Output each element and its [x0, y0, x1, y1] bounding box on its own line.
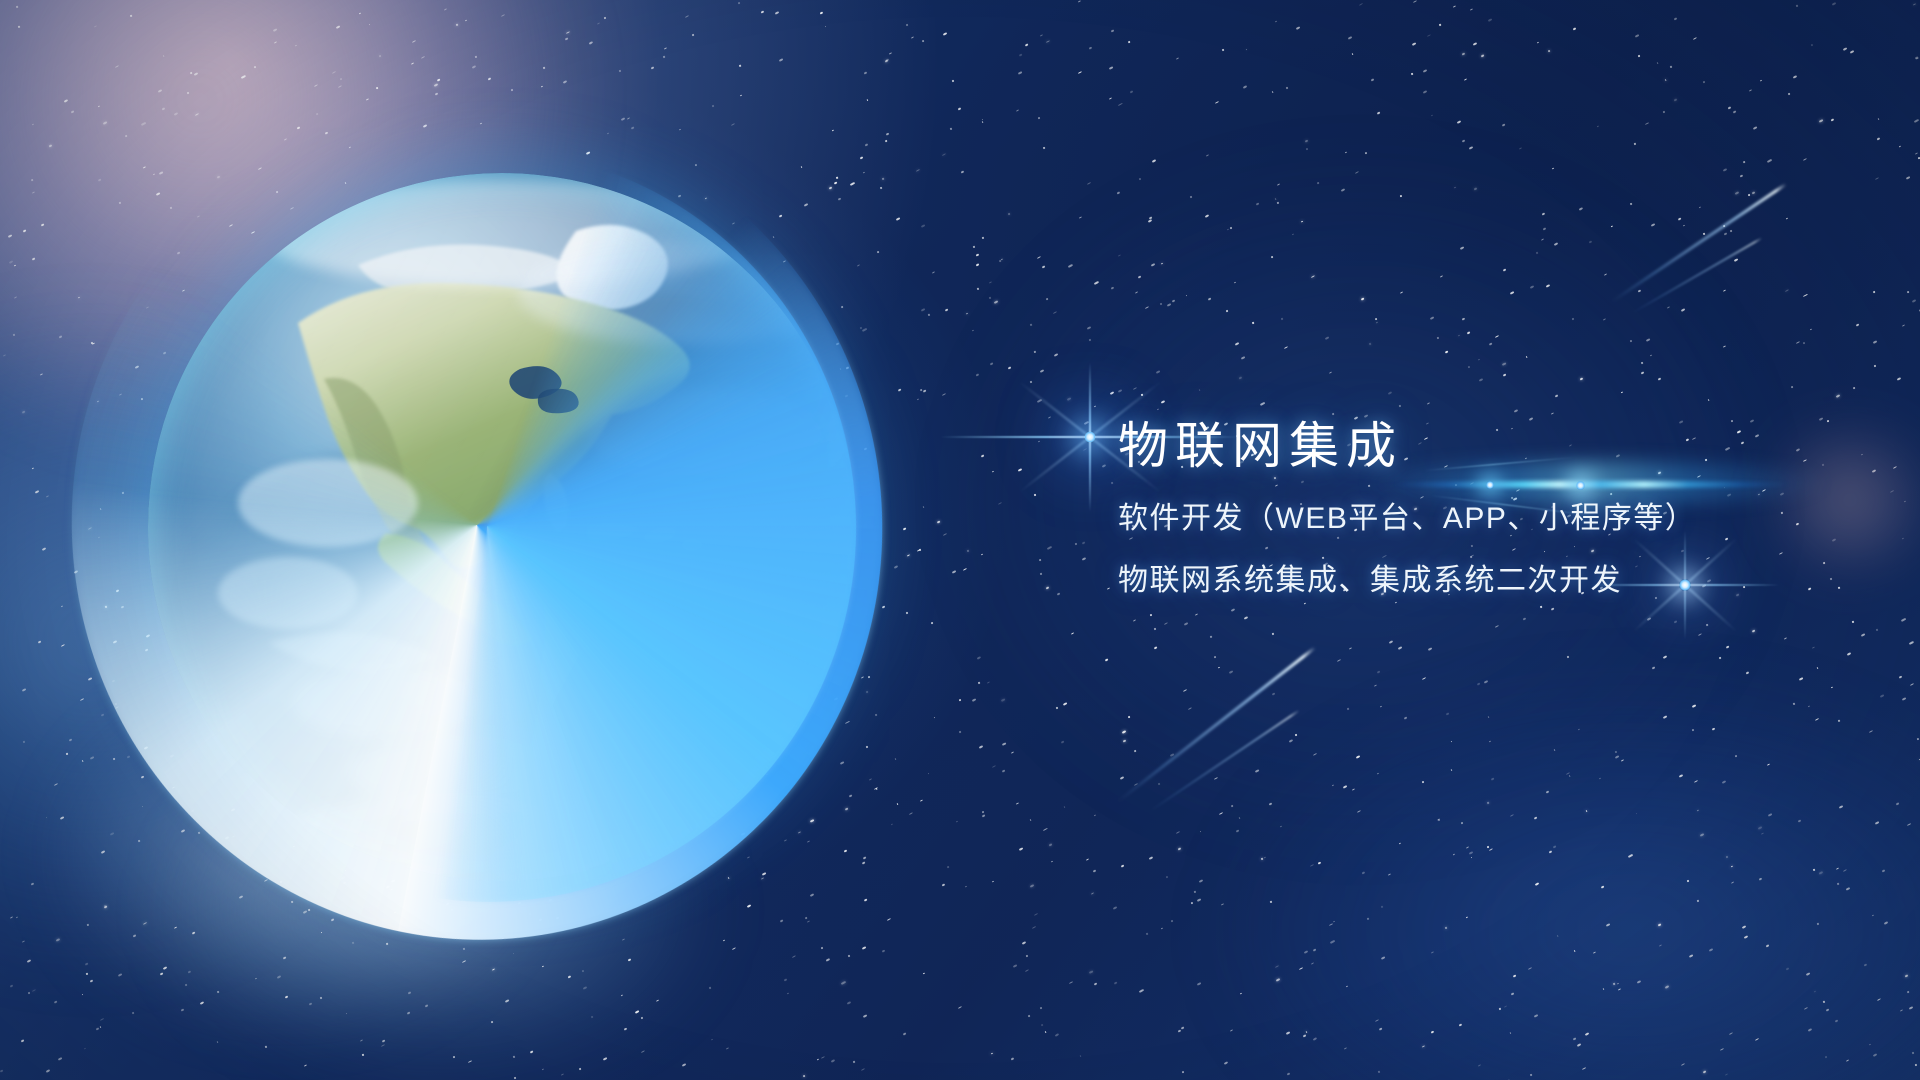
- star: [1176, 831, 1180, 834]
- star: [264, 1046, 266, 1048]
- star: [444, 9, 447, 11]
- page-title: 物联网集成: [1118, 418, 1878, 474]
- star: [1021, 941, 1025, 945]
- star: [1812, 868, 1814, 870]
- star: [22, 410, 26, 413]
- star: [1343, 1048, 1346, 1050]
- star: [141, 122, 146, 125]
- star: [10, 984, 14, 987]
- star: [1229, 670, 1234, 674]
- star: [1459, 1023, 1463, 1026]
- star: [972, 698, 977, 702]
- star: [1495, 335, 1499, 338]
- star: [1043, 828, 1048, 831]
- star: [981, 237, 983, 240]
- star: [1193, 891, 1195, 894]
- star: [512, 1056, 514, 1058]
- star: [1896, 803, 1899, 806]
- star: [1810, 43, 1813, 46]
- star: [1825, 1055, 1828, 1058]
- star: [1082, 557, 1086, 561]
- star: [1130, 90, 1133, 93]
- star: [1112, 906, 1116, 909]
- star: [1089, 46, 1093, 50]
- star: [1723, 224, 1726, 226]
- star: [1324, 336, 1329, 340]
- star: [986, 681, 989, 684]
- star: [97, 106, 99, 108]
- star: [58, 1058, 62, 1061]
- star: [69, 739, 73, 742]
- star: [1306, 147, 1309, 150]
- star: [1164, 622, 1168, 625]
- star: [1365, 151, 1368, 154]
- star: [1341, 188, 1346, 192]
- star: [27, 992, 30, 995]
- star: [1105, 659, 1108, 662]
- star: [906, 23, 909, 26]
- star: [1118, 103, 1123, 106]
- star: [891, 823, 893, 825]
- star: [1422, 1046, 1425, 1048]
- star: [976, 263, 979, 266]
- star: [1907, 290, 1910, 293]
- star: [582, 986, 586, 990]
- star: [1911, 1052, 1913, 1055]
- star: [40, 374, 43, 376]
- star: [1008, 367, 1011, 370]
- star: [1692, 728, 1695, 731]
- star: [1726, 855, 1729, 858]
- star: [1645, 338, 1649, 341]
- star: [1510, 815, 1514, 818]
- star: [474, 56, 476, 59]
- star: [1897, 377, 1901, 381]
- star: [1557, 935, 1559, 937]
- star: [1422, 781, 1425, 784]
- star: [1474, 188, 1477, 191]
- star: [1048, 416, 1051, 418]
- star: [1468, 366, 1471, 369]
- star: [1873, 340, 1878, 344]
- star: [1818, 871, 1822, 875]
- star: [1638, 290, 1642, 293]
- star: [468, 1060, 472, 1063]
- star: [1337, 659, 1341, 662]
- star: [425, 1004, 428, 1007]
- star: [1094, 814, 1096, 816]
- star: [1902, 697, 1906, 700]
- star: [1222, 48, 1225, 50]
- star: [1083, 448, 1087, 451]
- star: [1747, 193, 1750, 196]
- star: [977, 288, 979, 290]
- star: [15, 917, 17, 919]
- star: [1199, 830, 1201, 832]
- star: [319, 996, 321, 999]
- star: [194, 72, 199, 76]
- star: [1465, 917, 1467, 919]
- star: [1846, 888, 1850, 891]
- star: [491, 1020, 494, 1023]
- star: [1121, 864, 1125, 867]
- star: [897, 803, 899, 806]
- star: [1545, 284, 1549, 288]
- star: [369, 24, 371, 26]
- star: [1522, 617, 1525, 620]
- star: [1877, 117, 1879, 119]
- star: [32, 989, 36, 992]
- star: [1154, 627, 1156, 630]
- star: [1706, 624, 1709, 626]
- star: [1803, 158, 1807, 161]
- star: [1294, 734, 1297, 737]
- star: [1243, 85, 1247, 89]
- star: [1528, 967, 1532, 970]
- star: [1149, 216, 1152, 219]
- star: [740, 95, 742, 97]
- star: [1286, 1073, 1289, 1076]
- star: [1667, 306, 1670, 308]
- star: [1502, 373, 1506, 376]
- star: [1450, 768, 1452, 771]
- star: [1016, 803, 1019, 806]
- star: [1566, 656, 1569, 659]
- star: [884, 60, 888, 64]
- star: [992, 881, 995, 883]
- star: [61, 606, 63, 608]
- star: [435, 92, 439, 95]
- star: [1018, 468, 1022, 472]
- star: [1462, 53, 1466, 56]
- star: [1579, 377, 1582, 380]
- star: [1398, 842, 1400, 844]
- star: [1915, 152, 1918, 155]
- star: [1873, 291, 1876, 293]
- star: [1040, 369, 1045, 373]
- star: [656, 999, 660, 1002]
- star: [1276, 201, 1278, 204]
- star: [564, 37, 567, 40]
- star: [1542, 228, 1545, 231]
- star: [340, 78, 343, 81]
- banner-copy: 物联网集成 软件开发（WEB平台、APP、小程序等） 物联网系统集成、集成系统二…: [1118, 418, 1878, 603]
- star: [1877, 138, 1880, 141]
- star: [1037, 441, 1039, 443]
- star: [1286, 87, 1288, 90]
- star: [1381, 906, 1383, 908]
- star: [1606, 923, 1610, 926]
- star: [13, 334, 15, 337]
- star: [1154, 646, 1157, 649]
- star: [1628, 854, 1633, 858]
- star: [1330, 940, 1335, 944]
- star: [1118, 254, 1121, 257]
- globe-rim-glow: [148, 173, 856, 881]
- star: [360, 1039, 363, 1041]
- star: [1525, 355, 1527, 357]
- star: [1585, 1032, 1590, 1036]
- star: [1011, 751, 1014, 754]
- star: [641, 1050, 646, 1053]
- star: [1040, 1024, 1043, 1027]
- star: [1488, 18, 1493, 22]
- star: [32, 191, 35, 194]
- star: [1067, 397, 1072, 401]
- star: [991, 471, 994, 473]
- star: [979, 745, 983, 749]
- star: [1817, 922, 1820, 925]
- star: [880, 186, 883, 188]
- star: [32, 468, 34, 470]
- star: [46, 817, 48, 819]
- star: [1726, 646, 1730, 649]
- star: [1629, 339, 1632, 342]
- star: [1757, 827, 1761, 830]
- star: [972, 246, 974, 249]
- star: [1683, 224, 1686, 226]
- star: [1579, 207, 1583, 211]
- star: [1484, 680, 1488, 683]
- star: [1094, 281, 1099, 285]
- star: [31, 257, 34, 260]
- star: [1480, 54, 1483, 57]
- star: [1051, 860, 1054, 862]
- star: [104, 905, 107, 908]
- star: [1914, 119, 1919, 123]
- star: [109, 832, 113, 835]
- star: [624, 1027, 628, 1030]
- star: [975, 373, 978, 376]
- star: [1377, 112, 1381, 115]
- star: [1117, 389, 1121, 392]
- star: [1189, 196, 1192, 199]
- star: [1662, 655, 1667, 659]
- star: [1900, 1009, 1903, 1011]
- star: [1145, 933, 1147, 935]
- star: [80, 698, 84, 701]
- star: [1658, 923, 1661, 926]
- star: [830, 1059, 834, 1063]
- star: [1875, 177, 1879, 180]
- star: [1460, 246, 1465, 250]
- star: [1909, 1006, 1913, 1009]
- star: [1160, 928, 1162, 930]
- star: [1227, 229, 1229, 231]
- star: [1436, 337, 1439, 340]
- star: [56, 938, 60, 942]
- star: [1697, 900, 1699, 903]
- star: [90, 756, 94, 759]
- star: [679, 128, 682, 130]
- star: [60, 816, 64, 819]
- star: [1019, 53, 1023, 56]
- star: [1618, 989, 1621, 991]
- star: [434, 83, 439, 87]
- star: [663, 56, 665, 58]
- star: [920, 388, 923, 390]
- star: [1868, 1044, 1870, 1046]
- star: [1246, 49, 1248, 51]
- star: [185, 983, 187, 985]
- star: [1074, 543, 1077, 546]
- star: [943, 533, 947, 536]
- star: [1835, 1020, 1839, 1023]
- star: [22, 688, 26, 691]
- star: [1530, 285, 1535, 289]
- star: [1873, 1053, 1878, 1057]
- star: [1038, 116, 1041, 119]
- star: [103, 121, 107, 124]
- star: [53, 1000, 57, 1003]
- star: [981, 121, 983, 123]
- star: [1758, 878, 1762, 882]
- star: [1354, 171, 1358, 174]
- star: [1296, 26, 1301, 30]
- star: [591, 1016, 594, 1018]
- star: [775, 11, 779, 14]
- star: [1071, 632, 1074, 634]
- star: [884, 140, 887, 142]
- star: [607, 133, 609, 135]
- star: [253, 65, 256, 68]
- star: [1311, 275, 1315, 278]
- star: [437, 78, 441, 81]
- star: [1046, 586, 1049, 589]
- star: [691, 34, 694, 37]
- star: [1536, 251, 1538, 253]
- star: [1423, 90, 1427, 93]
- star: [1039, 559, 1042, 562]
- star: [1665, 985, 1669, 989]
- star: [1431, 1031, 1435, 1035]
- star: [1566, 772, 1570, 775]
- star: [1673, 620, 1676, 623]
- star: [452, 1056, 455, 1059]
- star: [423, 124, 428, 128]
- star: [1869, 730, 1873, 733]
- star: [1107, 587, 1110, 590]
- star: [1486, 801, 1488, 803]
- star: [1218, 667, 1221, 669]
- star: [1637, 54, 1640, 57]
- star: [618, 70, 621, 73]
- flare-core: [1084, 431, 1096, 443]
- star: [1907, 990, 1910, 992]
- star: [1438, 818, 1441, 821]
- star: [1510, 1031, 1512, 1034]
- star: [117, 973, 121, 976]
- star: [66, 752, 68, 754]
- star: [1238, 376, 1241, 379]
- star: [1901, 618, 1906, 622]
- star: [1855, 323, 1859, 326]
- star: [882, 950, 886, 953]
- star: [1723, 168, 1727, 171]
- star: [158, 89, 162, 92]
- star: [1573, 950, 1575, 952]
- star: [464, 19, 466, 21]
- star: [1190, 902, 1193, 905]
- star: [1252, 322, 1254, 324]
- star: [981, 553, 983, 555]
- star: [1446, 712, 1449, 715]
- star: [1272, 693, 1276, 696]
- star: [0, 1069, 4, 1072]
- star: [1657, 62, 1659, 64]
- star: [1093, 983, 1097, 986]
- star: [1346, 985, 1348, 987]
- star: [975, 253, 979, 256]
- star: [1025, 955, 1028, 958]
- star: [1122, 730, 1126, 734]
- star: [1374, 317, 1377, 320]
- star: [1702, 80, 1705, 83]
- star: [505, 999, 509, 1002]
- star: [100, 1018, 104, 1021]
- star: [1029, 819, 1031, 821]
- star: [909, 812, 913, 815]
- star: [895, 758, 897, 760]
- star: [1739, 174, 1743, 177]
- star: [1453, 6, 1456, 9]
- star: [1916, 57, 1919, 59]
- star: [1650, 223, 1654, 226]
- star: [965, 886, 968, 888]
- star: [603, 16, 606, 19]
- star: [1874, 364, 1877, 367]
- star: [1745, 671, 1748, 674]
- star: [846, 1001, 850, 1005]
- flare-vertical-ray: [1089, 362, 1091, 512]
- star: [1275, 198, 1277, 200]
- star: [187, 92, 190, 95]
- star: [1734, 258, 1739, 262]
- star: [349, 147, 351, 149]
- star: [972, 330, 974, 332]
- star: [1361, 297, 1365, 300]
- star: [920, 224, 924, 227]
- star: [1281, 318, 1283, 320]
- star: [1723, 345, 1726, 348]
- star: [59, 336, 62, 339]
- star: [980, 454, 983, 457]
- star: [42, 547, 47, 551]
- star: [1798, 819, 1802, 822]
- star: [916, 169, 920, 172]
- star: [1535, 882, 1540, 886]
- star: [421, 56, 425, 59]
- star: [480, 123, 482, 125]
- star: [992, 765, 996, 768]
- star: [1748, 90, 1751, 92]
- star: [1093, 869, 1097, 872]
- star: [1905, 974, 1908, 977]
- star: [1087, 182, 1091, 185]
- star: [1056, 707, 1059, 710]
- star: [1243, 617, 1247, 621]
- star: [1793, 75, 1797, 79]
- star: [761, 11, 765, 14]
- star: [947, 865, 950, 867]
- star: [1437, 818, 1440, 820]
- star: [366, 98, 369, 100]
- star: [1729, 229, 1732, 232]
- star: [1615, 751, 1618, 754]
- star: [1199, 389, 1201, 391]
- star: [1502, 124, 1506, 127]
- star: [1689, 954, 1693, 957]
